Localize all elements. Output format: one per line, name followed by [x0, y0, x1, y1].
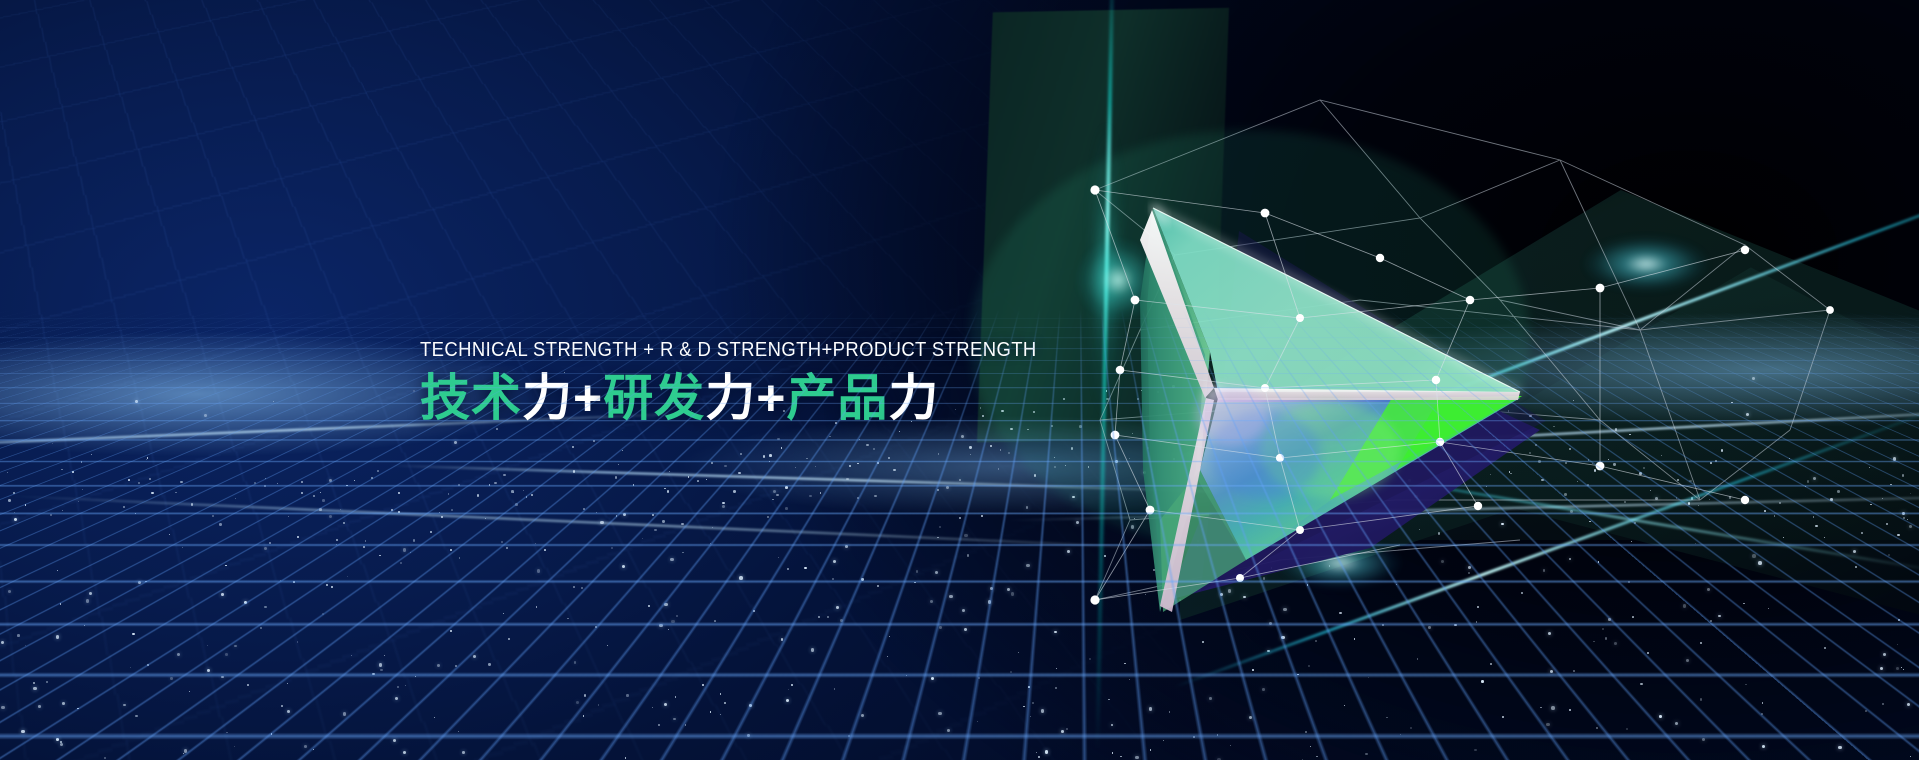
eyebrow-english-tagline: TECHNICAL STRENGTH + R & D STRENGTH+PROD… — [420, 338, 996, 362]
headline-block: TECHNICAL STRENGTH + R & D STRENGTH+PROD… — [420, 338, 1060, 425]
headline-seg-0: 技术 — [420, 370, 522, 426]
technology-banner: TECHNICAL STRENGTH + R & D STRENGTH+PROD… — [0, 0, 1919, 760]
headline-seg-6: 产品 — [786, 370, 888, 426]
headline-seg-1: 力 — [522, 370, 573, 426]
headline-seg-7: 力 — [888, 370, 939, 426]
terrain-crest-line-2 — [389, 465, 1245, 494]
headline-seg-4: 力 — [705, 370, 756, 426]
headline-seg-2: + — [573, 370, 603, 426]
terrain-crest-line-4 — [8, 495, 1197, 551]
headline-seg-5: + — [756, 370, 786, 426]
headline-chinese: 技术力+研发力+产品力 — [420, 371, 1060, 425]
terrain-crest-line-3 — [1151, 401, 1919, 457]
headline-seg-3: 研发 — [603, 370, 705, 426]
terrain-crest-line-5 — [1007, 493, 1919, 522]
